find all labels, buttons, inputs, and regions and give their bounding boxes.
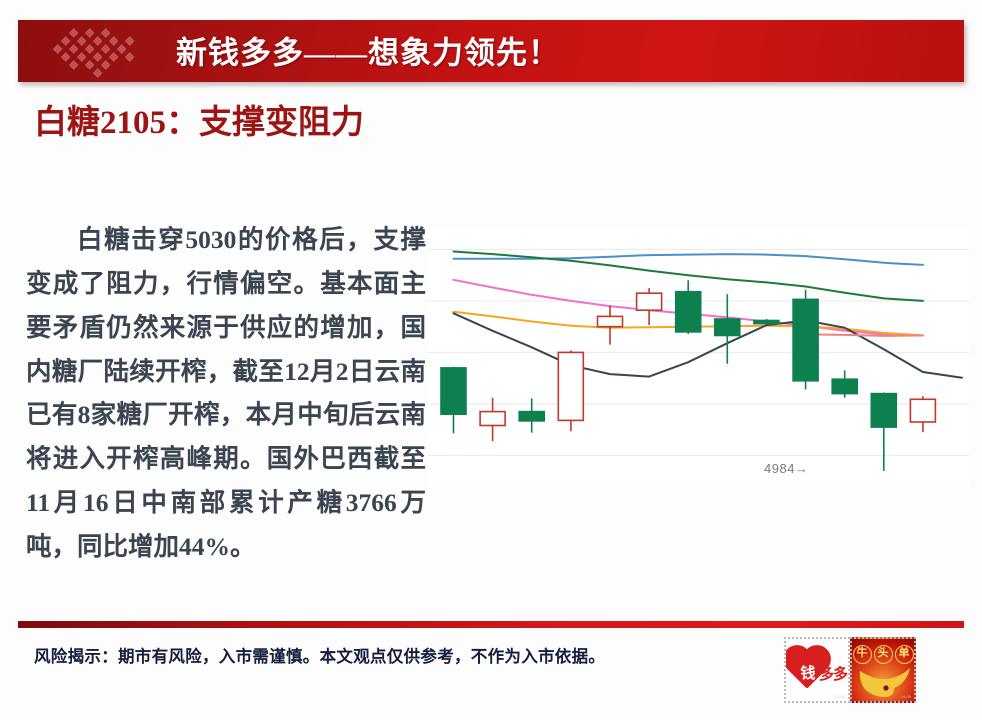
stamp-code: 14-09 [901, 694, 911, 699]
diamond-lattice-logo-icon [40, 24, 158, 80]
banner-title: 新钱多多——想象力领先！ [176, 28, 560, 73]
stamp-code: 13-05 [835, 694, 845, 699]
qianduoduo-logo-icon: ♥♥♥ 钱 多多 13-05 [784, 637, 850, 703]
presentation-slide: 新钱多多——想象力领先！ 白糖2105：支撑变阻力 白糖击穿5030的价格后，支… [0, 0, 982, 720]
footer-logos: ♥♥♥ 钱 多多 13-05 牛 头 单 14-09 [784, 637, 916, 703]
qian-character: 钱 [797, 662, 819, 683]
niutoudan-logo-icon: 牛 头 单 14-09 [850, 637, 916, 703]
footer-divider [18, 621, 964, 628]
candlestick-chart [428, 228, 970, 486]
char-tou: 头 [874, 645, 893, 664]
body-paragraph: 白糖击穿5030的价格后，支撑变成了阻力，行情偏空。基本面主要矛盾仍然来源于供应… [26, 218, 426, 569]
niutoudan-characters: 牛 头 单 [852, 645, 914, 664]
duoduo-characters: 多多 [819, 663, 847, 684]
char-niu: 牛 [853, 645, 872, 664]
page-title: 白糖2105：支撑变阻力 [34, 100, 434, 148]
char-dan: 单 [895, 645, 914, 664]
risk-disclaimer: 风险揭示：期市有风险，入市需谨慎。本文观点仅供参考，不作为入市依据。 [34, 643, 605, 667]
chart-price-label: 4984→ [764, 461, 808, 476]
header-banner: 新钱多多——想象力领先！ [18, 20, 964, 82]
